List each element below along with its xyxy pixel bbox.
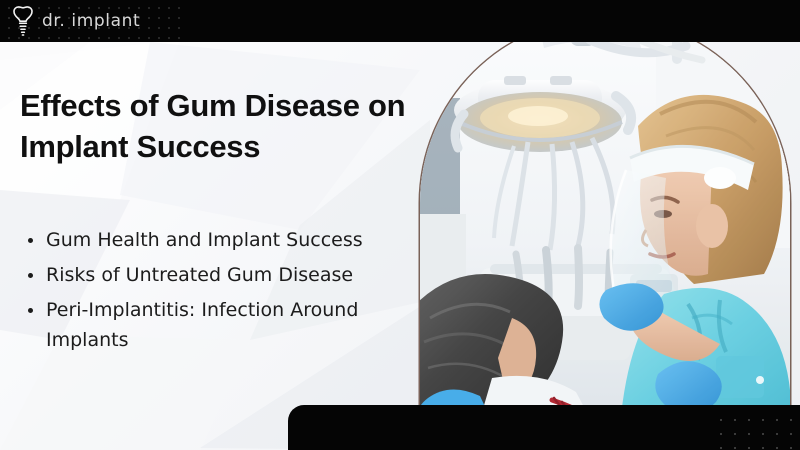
top-bar: dr. implant (0, 0, 800, 42)
presentation-slide: dr. implant Effects of Gum Disease on Im… (0, 0, 800, 450)
slide-bullet-list: Gum Health and Implant Success Risks of … (22, 225, 422, 360)
tooth-implant-icon (10, 5, 36, 37)
slide-title: Effects of Gum Disease on Implant Succes… (20, 85, 420, 167)
list-item: Gum Health and Implant Success (22, 225, 422, 256)
dental-photo-arch (420, 18, 790, 426)
list-item: Risks of Untreated Gum Disease (22, 260, 422, 291)
dental-clinic-photo (420, 18, 790, 426)
bottom-bar (288, 405, 800, 450)
brand-name: dr. implant (42, 11, 140, 31)
brand-logo[interactable]: dr. implant (10, 4, 140, 38)
list-item: Peri-Implantitis: Infection Around Impla… (22, 295, 422, 357)
bottom-bar-dot-pattern (710, 411, 800, 450)
